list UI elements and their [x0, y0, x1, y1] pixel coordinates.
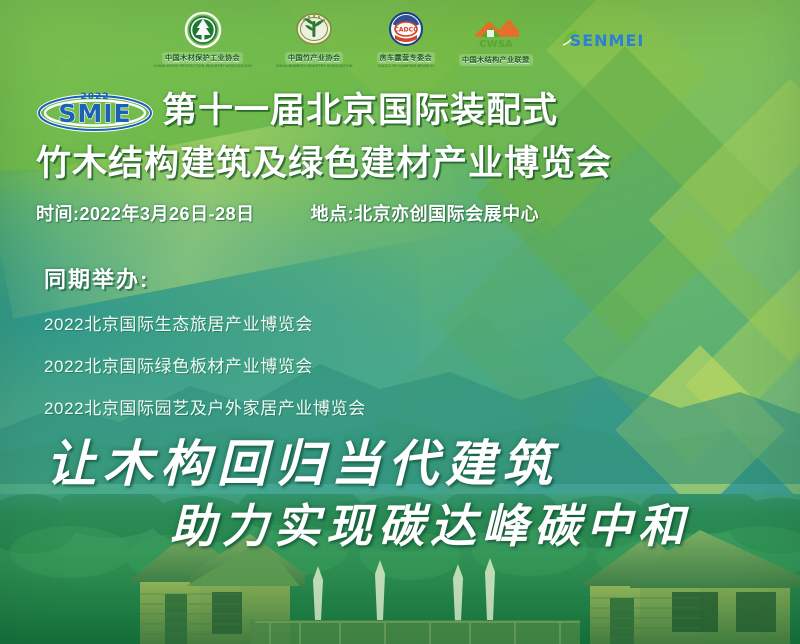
- logo-label-cn: 房车露营专委会: [377, 52, 436, 64]
- cwsa-abbr: CWSA: [479, 39, 513, 50]
- smie-logo: 2022 SMIE: [36, 89, 154, 133]
- exhibition-poster: 中国木材保护工业协会 CHINA WOOD PROTECTION INDUSTR…: [0, 0, 800, 644]
- senmei-wordmark: SENMEI: [569, 31, 644, 50]
- logo-china-wood-protection-industry-association: 中国木材保护工业协会 CHINA WOOD PROTECTION INDUSTR…: [153, 11, 251, 68]
- logo-cadcc-rv-camping-committee: CADCC 房车露营专委会 CADCC RV CAMPING BRANCH: [377, 11, 436, 68]
- logo-label-en: CHINA BAMBOO INDUSTRY ASSOCIATION: [276, 64, 353, 68]
- headline-block: 2022 SMIE 第十一届北京国际装配式 竹木结构建筑及绿色建材产业博览会: [0, 86, 800, 186]
- logo-label-en: CADCC RV CAMPING BRANCH: [378, 64, 434, 68]
- headline-line-1: 第十一届北京国际装配式: [162, 89, 558, 133]
- logo-bamboo-industry-association: 中国竹产业协会 CHINA BAMBOO INDUSTRY ASSOCIATIO…: [276, 11, 353, 68]
- logo-label-cn: 中国木结构产业联盟: [459, 54, 533, 66]
- leaf-sprout-icon: SENMEI: [557, 24, 647, 54]
- smie-wordmark: SMIE: [58, 99, 131, 128]
- event-meta: 时间:2022年3月26日-28日 地点:北京亦创国际会展中心: [36, 200, 776, 226]
- pine-tree-shield-icon: [181, 11, 225, 51]
- concurrent-event-item: 2022北京国际园艺及户外家居产业博览会: [44, 394, 366, 419]
- cadcc-badge-icon: CADCC: [384, 11, 428, 51]
- concurrent-event-item: 2022北京国际绿色板材产业博览会: [44, 352, 366, 377]
- organizer-logo-row: 中国木材保护工业协会 CHINA WOOD PROTECTION INDUSTR…: [0, 8, 800, 70]
- event-venue: 地点:北京亦创国际会展中心: [311, 200, 540, 226]
- logo-label-en: CHINA WOOD PROTECTION INDUSTRY ASSOCIATI…: [153, 64, 251, 68]
- concurrent-events-title: 同期举办:: [44, 262, 366, 294]
- concurrent-events: 同期举办: 2022北京国际生态旅居产业博览会 2022北京国际绿色板材产业博览…: [44, 262, 366, 436]
- slogan-line-2: 助力实现碳达峰碳中和: [170, 490, 690, 556]
- logo-cwsa-wood-structure-alliance: CWSA 中国木结构产业联盟: [459, 13, 533, 66]
- concurrent-event-item: 2022北京国际生态旅居产业博览会: [44, 310, 366, 335]
- logo-label-cn: 中国木材保护工业协会: [162, 52, 243, 64]
- bamboo-seal-icon: [292, 11, 336, 51]
- logo-senmei: SENMEI: [557, 24, 647, 54]
- cadcc-abbr: CADCC: [394, 26, 418, 33]
- headline-line-2: 竹木结构建筑及绿色建材产业博览会: [0, 142, 800, 186]
- logo-label-cn: 中国竹产业协会: [285, 52, 344, 64]
- slogan-line-1: 让木构回归当代建筑: [46, 424, 559, 496]
- house-roof-icon: CWSA: [469, 13, 523, 53]
- event-date: 时间:2022年3月26日-28日: [36, 200, 255, 226]
